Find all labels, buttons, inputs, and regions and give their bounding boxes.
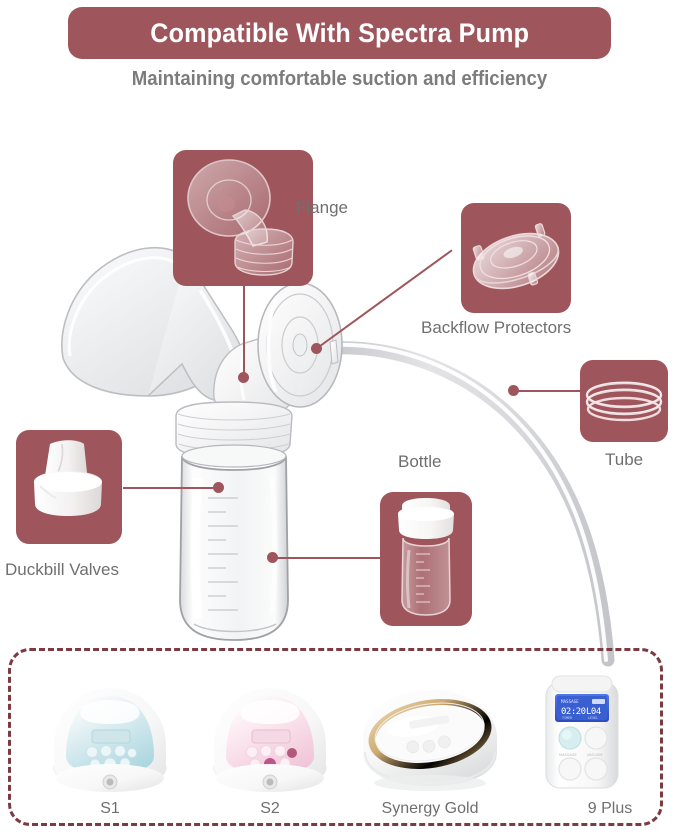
header-subtitle: Maintaining comfortable suction and effi… bbox=[24, 68, 655, 91]
svg-text:VACUUM: VACUUM bbox=[587, 753, 603, 757]
leader-line-tube bbox=[513, 390, 581, 392]
model-s2-icon bbox=[200, 672, 340, 796]
leader-line-flange bbox=[243, 286, 245, 378]
callout-box-backflow[interactable] bbox=[461, 203, 571, 313]
leader-dot-tube bbox=[508, 385, 519, 396]
callout-box-bottle[interactable] bbox=[380, 492, 472, 626]
leader-dot-flange bbox=[238, 372, 249, 383]
model-s1-icon bbox=[40, 672, 180, 796]
callout-label-backflow: Backflow Protectors bbox=[421, 318, 571, 338]
model-label-9-plus: 9 Plus bbox=[530, 800, 679, 818]
model-9-plus-icon: MASSAGE 02:20 L04 TIMER LEVEL MASSAGE VA… bbox=[528, 668, 638, 798]
header-banner: Compatible With Spectra Pump bbox=[68, 7, 611, 59]
model-label-synergy-gold: Synergy Gold bbox=[350, 800, 510, 818]
model-synergy-gold-icon bbox=[355, 682, 505, 796]
callout-label-bottle: Bottle bbox=[398, 452, 441, 472]
banner-title: Compatible With Spectra Pump bbox=[150, 18, 529, 49]
callout-box-duckbill[interactable] bbox=[16, 430, 122, 544]
collection-bottle-shape bbox=[176, 402, 292, 640]
bottle-icon bbox=[380, 492, 472, 626]
leader-line-bottle bbox=[272, 557, 380, 559]
flange-icon bbox=[173, 150, 313, 286]
callout-box-tube[interactable] bbox=[580, 360, 668, 442]
leader-line-duckbill bbox=[123, 487, 223, 489]
model-s1[interactable] bbox=[40, 672, 180, 801]
callout-label-tube: Tube bbox=[605, 450, 643, 470]
svg-text:MASSAGE: MASSAGE bbox=[559, 753, 577, 757]
tube-coil-icon bbox=[580, 360, 668, 442]
model-label-s2: S2 bbox=[190, 800, 350, 818]
model-9-plus[interactable]: MASSAGE 02:20 L04 TIMER LEVEL MASSAGE VA… bbox=[528, 668, 638, 803]
leader-dot-backflow bbox=[311, 343, 322, 354]
lcd-top-left-text: MASSAGE bbox=[561, 699, 579, 704]
svg-text:TIMER: TIMER bbox=[562, 716, 573, 720]
duckbill-valve-icon bbox=[16, 430, 122, 544]
callout-label-flange: Flange bbox=[296, 198, 348, 218]
model-s2[interactable] bbox=[200, 672, 340, 801]
model-synergy-gold[interactable] bbox=[355, 682, 505, 801]
svg-text:LEVEL: LEVEL bbox=[588, 716, 598, 720]
model-label-s1: S1 bbox=[30, 800, 190, 818]
infographic-canvas: Compatible With Spectra Pump Maintaining… bbox=[0, 0, 679, 835]
leader-dot-bottle bbox=[267, 552, 278, 563]
leader-dot-duckbill bbox=[213, 482, 224, 493]
backflow-protector-icon bbox=[461, 203, 571, 313]
backflow-protector-disc-shape bbox=[258, 283, 342, 407]
callout-label-duckbill: Duckbill Valves bbox=[5, 560, 119, 580]
callout-box-flange[interactable] bbox=[173, 150, 313, 286]
